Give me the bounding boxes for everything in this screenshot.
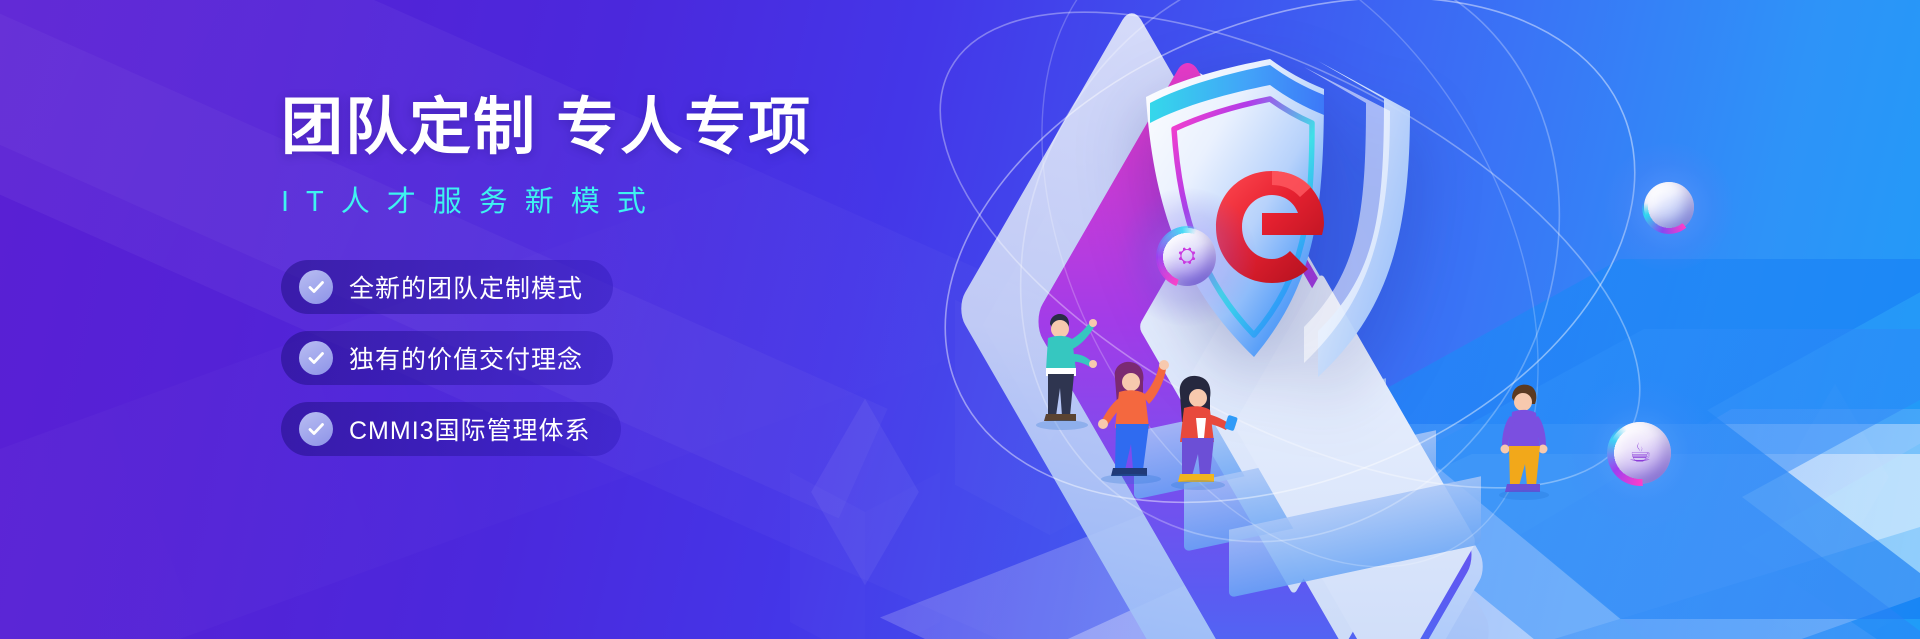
platform-step	[1205, 398, 1505, 568]
check-icon	[299, 341, 333, 375]
chip-sphere-icon: ⛭	[1118, 188, 1256, 326]
feature-pill-label: CMMI3国际管理体系	[349, 411, 591, 447]
promo-banner: ⛭ ☕	[0, 0, 1920, 639]
feature-pill[interactable]: 独有的价值交付理念	[281, 331, 613, 385]
banner-text-block: 团队定制 专人专项 IT人才服务新模式 全新的团队定制模式	[281, 95, 1001, 473]
plain-sphere-icon	[1605, 143, 1733, 271]
feature-pill-label: 全新的团队定制模式	[349, 269, 583, 305]
page-title: 团队定制 专人专项	[281, 95, 1001, 162]
check-icon	[299, 270, 333, 304]
feature-pill-list: 全新的团队定制模式 独有的价值交付理念	[281, 260, 1001, 473]
banner-subtitle: IT人才服务新模式	[281, 178, 1001, 220]
background-cube-icon	[1760, 425, 1910, 639]
java-sphere-icon: ☕	[1565, 378, 1715, 528]
check-icon	[299, 412, 333, 446]
feature-pill[interactable]: CMMI3国际管理体系	[281, 402, 621, 456]
feature-pill[interactable]: 全新的团队定制模式	[281, 260, 613, 314]
chip-icon: ⛭	[1178, 245, 1196, 267]
person-purple-shirt	[1488, 380, 1562, 500]
feature-pill-label: 独有的价值交付理念	[349, 340, 583, 376]
person-red-coat	[1158, 372, 1244, 490]
java-icon: ☕	[1628, 439, 1651, 465]
chevron-ribbon-shape	[880, 424, 1920, 639]
